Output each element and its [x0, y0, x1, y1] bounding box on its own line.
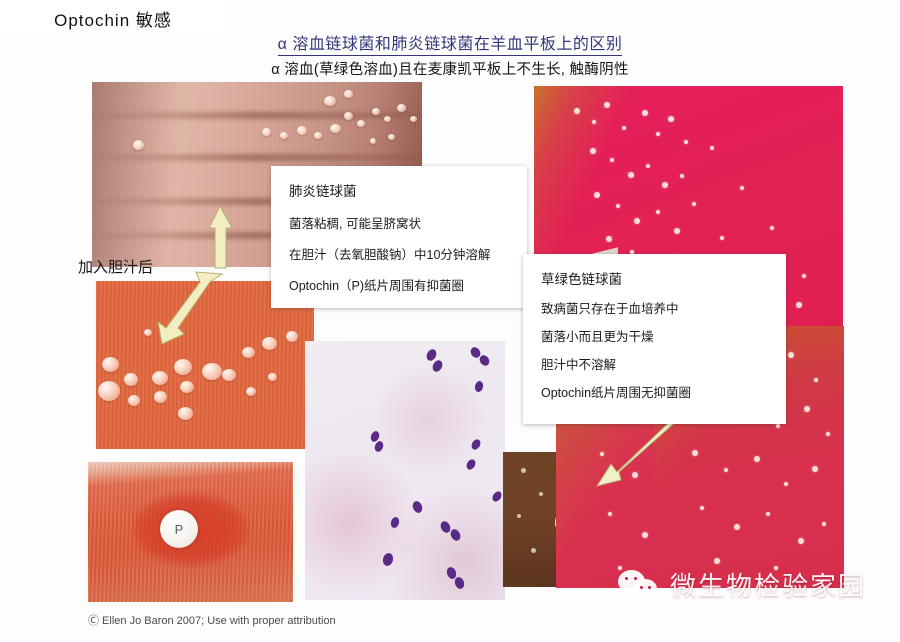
diplococcus — [478, 353, 492, 367]
colony — [124, 373, 138, 386]
panel-gram-stain — [305, 341, 505, 600]
colony — [98, 381, 120, 401]
callout-viridans-line-1: 致病菌只存在于血培养中 — [541, 298, 770, 317]
colony — [178, 407, 193, 420]
diplococcus — [491, 490, 504, 504]
colony — [242, 347, 255, 358]
colony — [388, 134, 395, 140]
watermark-text: 微生物检验家园 — [670, 566, 866, 603]
colony — [268, 373, 277, 381]
panel-optochin-sensitive: P — [88, 462, 293, 602]
callout-viridans-title: 草绿色链球菌 — [541, 268, 770, 288]
colony — [262, 128, 271, 136]
callout-viridans-line-2: 菌落小而且更为干燥 — [541, 326, 770, 345]
colony — [152, 371, 168, 385]
colony — [154, 391, 167, 403]
colony — [246, 387, 256, 396]
colony — [372, 108, 380, 115]
callout-pneumoniae-line-3: Optochin（P)纸片周围有抑菌圈 — [289, 275, 511, 294]
colony — [517, 514, 521, 518]
colony — [286, 331, 298, 342]
arrow-up-icon — [206, 206, 240, 268]
colony — [370, 138, 376, 144]
colony — [280, 132, 288, 139]
colony — [262, 337, 277, 350]
callout-pneumoniae-line-2: 在胆汁（去氧胆酸钠）中10分钟溶解 — [289, 244, 511, 263]
callout-pneumoniae-title: 肺炎链球菌 — [289, 180, 511, 200]
slide-canvas: P P — [0, 0, 900, 642]
colony — [521, 468, 526, 473]
callout-pneumoniae-line-1: 菌落粘稠, 可能呈脐窝状 — [289, 213, 511, 232]
callout-pneumoniae: 肺炎链球菌 菌落粘稠, 可能呈脐窝状 在胆汁（去氧胆酸钠）中10分钟溶解 Opt… — [271, 166, 527, 308]
attribution-text: Ⓒ Ellen Jo Baron 2007; Use with proper a… — [88, 612, 336, 628]
colony — [180, 381, 194, 393]
page-title: α 溶血链球菌和肺炎链球菌在羊血平板上的区别 — [0, 30, 900, 54]
colony — [539, 492, 543, 496]
diplococcus — [411, 500, 424, 514]
colony — [344, 112, 353, 120]
colony — [297, 126, 307, 135]
disc-label: P — [175, 522, 184, 537]
colony — [202, 363, 222, 380]
watermark: 微生物检验家园 — [618, 566, 866, 603]
colony — [384, 116, 391, 122]
arrow-down-left-icon — [140, 272, 224, 352]
colony — [410, 116, 417, 122]
diplococcus — [465, 458, 477, 472]
label-after-bile: 加入胆汁后 — [78, 256, 153, 277]
diplococcus — [470, 438, 482, 452]
diplococcus — [474, 380, 484, 392]
page-subtitle: α 溶血(草绿色溶血)且在麦康凯平板上不生长, 触酶阴性 — [0, 58, 900, 79]
colony — [531, 548, 536, 553]
colony — [314, 132, 322, 139]
callout-viridans: 草绿色链球菌 致病菌只存在于血培养中 菌落小而且更为干燥 胆汁中不溶解 Opto… — [523, 254, 786, 424]
streak-line — [92, 154, 422, 161]
colony — [133, 140, 144, 150]
diplococcus — [449, 528, 463, 543]
diplococcus — [381, 552, 394, 567]
colony — [128, 395, 140, 406]
colony — [330, 124, 341, 133]
callout-viridans-line-3: 胆汁中不溶解 — [541, 354, 770, 373]
diplococcus — [431, 359, 445, 374]
wechat-logo-icon — [618, 568, 662, 602]
diplococcus — [453, 576, 466, 590]
colony — [357, 120, 365, 127]
callout-viridans-line-4: Optochin纸片周围无抑菌圈 — [541, 382, 770, 401]
colony — [174, 359, 192, 375]
colony — [397, 104, 406, 112]
colony — [324, 96, 336, 106]
diplococcus — [389, 516, 400, 529]
colony — [102, 357, 119, 372]
colony — [222, 369, 236, 381]
page-title-text: α 溶血链球菌和肺炎链球菌在羊血平板上的区别 — [278, 36, 623, 56]
optochin-disc-p: P — [160, 510, 198, 548]
colony — [344, 90, 353, 98]
